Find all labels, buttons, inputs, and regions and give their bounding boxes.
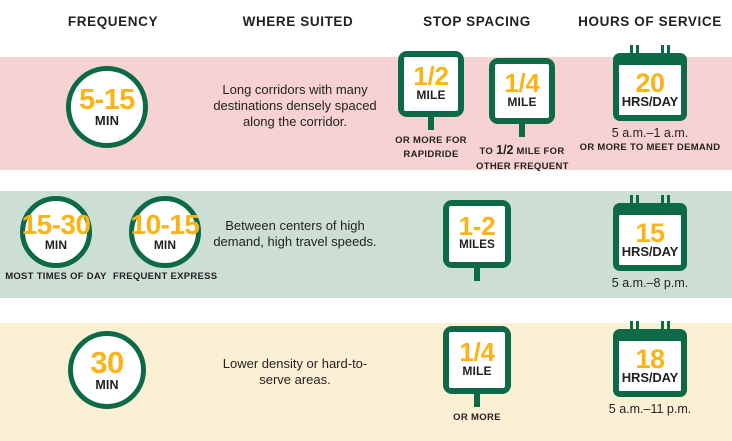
frequency-cell: 30 MIN <box>0 323 208 441</box>
hours-calendar-badge: 18 HRS/DAY 5 a.m.–11 p.m. <box>568 321 732 417</box>
frequency-unit: MIN <box>154 239 176 251</box>
hours-cell: 20 HRS/DAY 5 a.m.–1 a.m. OR MORE TO MEET… <box>568 57 732 170</box>
column-header-stop-spacing: STOP SPACING <box>382 14 572 29</box>
hours-unit: HRS/DAY <box>622 95 678 109</box>
hours-timespan: 5 a.m.–1 a.m. <box>568 126 732 141</box>
where-suited-text: Long corridors with many destinations de… <box>208 82 382 130</box>
infographic-sheet: FREQUENCY WHERE SUITED STOP SPACING HOUR… <box>0 0 732 441</box>
calendar-body: 18 HRS/DAY <box>613 329 687 397</box>
caption-line: OR MORE FOR <box>388 134 474 148</box>
frequency-badge-2: 10-15 MIN FREQUENT EXPRESS <box>113 196 217 282</box>
stop-spacing-value: 1/2 <box>413 65 448 89</box>
stop-spacing-sign-1: 1-2 MILES <box>402 200 552 281</box>
frequency-value: 5-15 <box>79 87 135 114</box>
service-row-basic: 30 MIN Lower density or hard-to-serve ar… <box>0 323 732 441</box>
service-row-frequent: 5-15 MIN Long corridors with many destin… <box>0 57 732 170</box>
stop-spacing-caption-1: OR MORE FOR RAPIDRIDE <box>388 134 474 163</box>
column-header-frequency: FREQUENCY <box>18 14 208 29</box>
where-suited-text: Lower density or hard-to-serve areas. <box>208 356 382 388</box>
stop-spacing-unit: MILE <box>462 365 491 379</box>
stop-spacing-unit: MILE <box>507 96 536 110</box>
caption-line: TO 1/2 MILE FOR <box>476 141 568 160</box>
sign-plate: 1/4 MILE <box>489 58 555 124</box>
frequency-value: 10-15 <box>131 212 200 238</box>
service-row-local: 15-30 MIN MOST TIMES OF DAY 10-15 MIN FR… <box>0 191 732 298</box>
stop-spacing-cell: 1/2 MILE OR MORE FOR RAPIDRIDE 1/4 MILE <box>382 57 568 170</box>
sign-post <box>428 117 434 130</box>
column-header-hours-of-service: HOURS OF SERVICE <box>568 14 732 29</box>
sign-post <box>474 394 480 407</box>
hours-cell: 15 HRS/DAY 5 a.m.–8 p.m. <box>568 191 732 298</box>
frequency-circle: 5-15 MIN <box>66 66 148 148</box>
hours-unit: HRS/DAY <box>622 245 678 259</box>
frequency-unit: MIN <box>95 114 119 127</box>
stop-spacing-unit: MILE <box>416 89 445 103</box>
where-suited-text: Between centers of high demand, high tra… <box>208 218 382 250</box>
hours-cell: 18 HRS/DAY 5 a.m.–11 p.m. <box>568 323 732 441</box>
where-suited-cell: Lower density or hard-to-serve areas. <box>208 323 382 441</box>
calendar-icon: 15 HRS/DAY <box>613 195 687 271</box>
calendar-body: 20 HRS/DAY <box>613 53 687 121</box>
sign-post <box>519 124 525 137</box>
hours-caption: OR MORE TO MEET DEMAND <box>568 141 732 155</box>
frequency-badge-1: 15-30 MIN MOST TIMES OF DAY <box>2 196 110 282</box>
hours-calendar-badge: 15 HRS/DAY 5 a.m.–8 p.m. <box>568 195 732 291</box>
hours-value: 18 <box>636 348 665 371</box>
hours-value: 20 <box>636 72 665 95</box>
frequency-badge: 30 MIN <box>66 331 148 409</box>
frequency-circle: 15-30 MIN <box>20 196 92 268</box>
frequency-circle: 30 MIN <box>68 331 146 409</box>
frequency-cell: 15-30 MIN MOST TIMES OF DAY 10-15 MIN FR… <box>0 191 208 298</box>
sign-post <box>474 268 480 281</box>
caption-line: OR MORE <box>402 411 552 425</box>
sign-face: 1-2 MILES <box>449 206 505 262</box>
hours-calendar-badge: 20 HRS/DAY 5 a.m.–1 a.m. OR MORE TO MEET… <box>568 45 732 155</box>
calendar-icon: 18 HRS/DAY <box>613 321 687 397</box>
hours-timespan: 5 a.m.–8 p.m. <box>568 276 732 291</box>
hours-value: 15 <box>636 222 665 245</box>
frequency-unit: MIN <box>45 239 67 251</box>
sign-face: 1/4 MILE <box>495 64 549 118</box>
frequency-badge: 5-15 MIN <box>66 66 148 148</box>
calendar-icon: 20 HRS/DAY <box>613 45 687 121</box>
stop-spacing-cell: 1-2 MILES <box>382 191 568 298</box>
stop-spacing-sign-2: 1/4 MILE TO 1/2 MILE FOR OTHER FREQUENT <box>476 58 568 174</box>
frequency-caption: MOST TIMES OF DAY <box>2 271 110 282</box>
caption-line: OTHER FREQUENT <box>476 160 568 174</box>
stop-spacing-cell: 1/4 MILE OR MORE <box>382 323 568 441</box>
caption-line: RAPIDRIDE <box>388 148 474 162</box>
stop-spacing-unit: MILES <box>459 239 495 252</box>
stop-spacing-value: 1/4 <box>459 341 494 365</box>
where-suited-cell: Long corridors with many destinations de… <box>208 57 382 170</box>
hours-timespan: 5 a.m.–11 p.m. <box>568 402 732 417</box>
sign-plate: 1/2 MILE <box>398 51 464 117</box>
hours-unit: HRS/DAY <box>622 371 678 385</box>
calendar-face: 20 HRS/DAY <box>619 65 681 115</box>
frequency-cell: 5-15 MIN <box>0 57 208 170</box>
frequency-circle: 10-15 MIN <box>129 196 201 268</box>
stop-spacing-caption-1: OR MORE <box>402 411 552 425</box>
stop-spacing-sign-1: 1/2 MILE OR MORE FOR RAPIDRIDE <box>388 51 474 163</box>
stop-spacing-value: 1-2 <box>459 215 496 239</box>
sign-face: 1/4 MILE <box>449 332 505 388</box>
column-header-where-suited: WHERE SUITED <box>208 14 388 29</box>
stop-spacing-value: 1/4 <box>504 72 539 96</box>
sign-face: 1/2 MILE <box>404 57 458 111</box>
calendar-face: 15 HRS/DAY <box>619 215 681 265</box>
frequency-unit: MIN <box>95 379 118 392</box>
where-suited-cell: Between centers of high demand, high tra… <box>208 191 382 298</box>
frequency-value: 30 <box>90 349 123 378</box>
calendar-face: 18 HRS/DAY <box>619 341 681 391</box>
frequency-value: 15-30 <box>22 212 91 238</box>
stop-spacing-sign-1: 1/4 MILE OR MORE <box>402 326 552 425</box>
sign-plate: 1-2 MILES <box>443 200 511 268</box>
calendar-body: 15 HRS/DAY <box>613 203 687 271</box>
sign-plate: 1/4 MILE <box>443 326 511 394</box>
frequency-caption: FREQUENT EXPRESS <box>113 271 217 282</box>
stop-spacing-caption-2: TO 1/2 MILE FOR OTHER FREQUENT <box>476 141 568 174</box>
